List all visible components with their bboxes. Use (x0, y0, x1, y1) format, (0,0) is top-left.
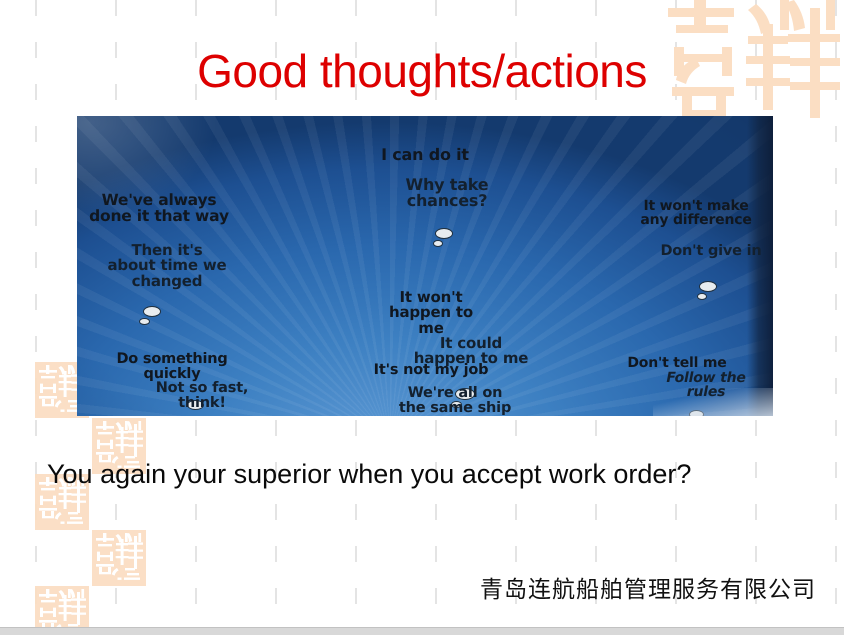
thought-bubble-text: We've alwaysdone it that way (83, 193, 235, 225)
bottom-status-bar (0, 627, 844, 635)
thought-bubble-text: I can do it (375, 147, 475, 163)
thought-bubble-text: Why takechances? (400, 177, 495, 210)
footer-company-name: 青岛连航船舶管理服务有限公司 (480, 575, 816, 605)
thought-bubble-text: Follow therules (660, 371, 751, 400)
thought-bubble-text: Not so fast,think! (150, 381, 254, 411)
page-title: Good thoughts/actions (0, 44, 844, 98)
thought-bubbles-poster-photo: We've alwaysdone it that way Then it'sab… (77, 116, 773, 416)
thought-bubble-text: It won'thappen tome (383, 290, 479, 336)
thought-bubble-text: We're all onthe same ship (393, 386, 517, 416)
thought-bubble-text: Then it'sabout time wechanged (101, 243, 232, 289)
thought-bubble-text: It won't makeany difference (634, 199, 757, 228)
presentation-slide: Good thoughts/actions We've alwaysdone i… (0, 0, 844, 635)
seal-stamp-icon (92, 530, 146, 586)
thought-bubble-text: Do somethingquickly (110, 352, 233, 382)
thought-bubble-text: It's not my job (368, 363, 495, 378)
thought-bubble-text: Don't tell me (621, 356, 732, 370)
thought-bubble-text: Don't give in (654, 244, 767, 259)
slide-body-text: You again your superior when you accept … (47, 443, 807, 505)
